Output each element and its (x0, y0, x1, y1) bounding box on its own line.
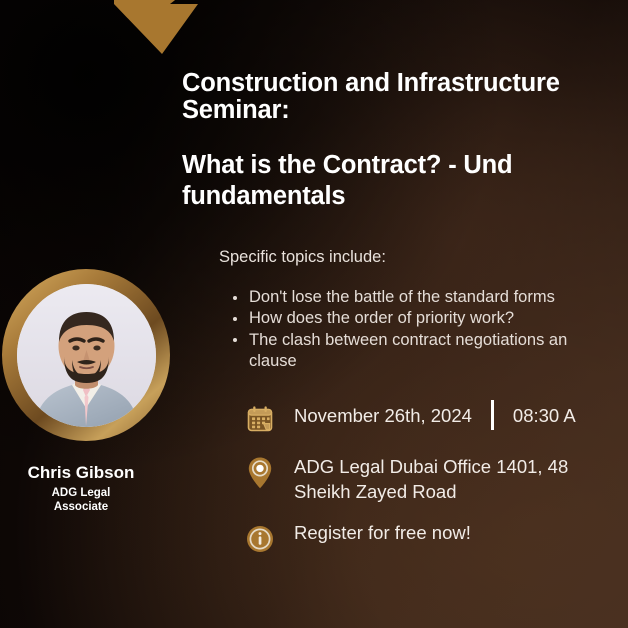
topic-label: How does the order of priority work? (249, 309, 514, 327)
event-date: November 26th, 2024 (294, 403, 472, 428)
event-time: 08:30 A (513, 403, 576, 428)
topic-label: Don't lose the battle of the standard fo… (249, 288, 555, 306)
map-pin-icon (243, 454, 277, 492)
event-details: November 26th, 2024 08:30 A ADG Legal Du… (243, 400, 628, 574)
detail-row-location: ADG Legal Dubai Office 1401, 48 Sheikh Z… (243, 454, 628, 504)
datetime-divider (491, 400, 494, 430)
event-location: ADG Legal Dubai Office 1401, 48 Sheikh Z… (277, 454, 628, 504)
headline-block: Construction and Infrastructure Seminar:… (182, 70, 628, 212)
event-location-line1: ADG Legal Dubai Office 1401, 48 (294, 456, 568, 477)
calendar-icon (243, 400, 277, 438)
speaker-name: Chris Gibson (0, 462, 162, 483)
adg-legal-chevron-logo-icon (110, 0, 202, 56)
event-poster: Construction and Infrastructure Seminar:… (0, 0, 628, 628)
bullet-dot-icon (233, 296, 237, 300)
speaker-portrait (17, 284, 156, 427)
bullet-dot-icon (233, 338, 237, 342)
seminar-topic-title-line1: What is the Contract? - Und (182, 150, 628, 181)
detail-row-registration[interactable]: Register for free now! (243, 520, 628, 558)
detail-row-datetime: November 26th, 2024 08:30 A (243, 400, 628, 438)
topics-list: Don't lose the battle of the standard fo… (231, 287, 628, 372)
list-item: Don't lose the battle of the standard fo… (231, 287, 628, 308)
list-item: The clash between contract negotiations … (231, 330, 628, 373)
topic-label: The clash between contract negotiations … (249, 331, 567, 349)
seminar-topic-title-line2: fundamentals (182, 181, 628, 212)
topics-intro-label: Specific topics include: (219, 246, 386, 268)
datetime-line: November 26th, 2024 08:30 A (277, 400, 576, 430)
topic-label-continuation: clause (249, 352, 297, 370)
event-location-line2: Sheikh Zayed Road (294, 481, 457, 502)
speaker-role: Associate (0, 500, 162, 514)
seminar-series-title-line1: Construction and Infrastructure (182, 70, 628, 97)
avatar (2, 269, 170, 441)
speaker-organization: ADG Legal (0, 486, 162, 500)
info-icon (243, 520, 277, 558)
bullet-dot-icon (233, 317, 237, 321)
seminar-series-title-line2: Seminar: (182, 97, 628, 124)
list-item: How does the order of priority work? (231, 308, 628, 329)
registration-cta[interactable]: Register for free now! (277, 520, 471, 545)
